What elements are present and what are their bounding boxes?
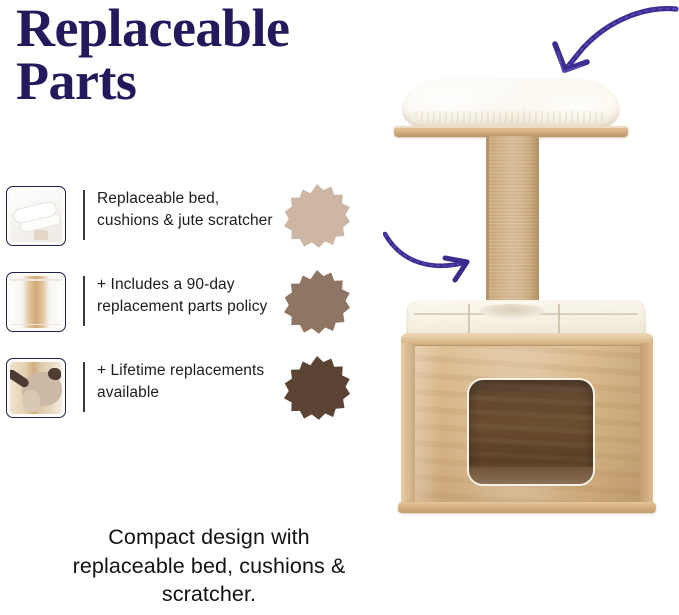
divider [83,362,85,412]
divider [83,190,85,240]
list-item: Replaceable bed, cushions & jute scratch… [0,182,360,268]
rounded-entry-opening [467,378,595,486]
feature-list: Replaceable bed, cushions & jute scratch… [0,182,360,440]
curved-arrow-pointing-to-scratcher [383,218,503,290]
caption-text: Compact design with replaceable bed, cus… [18,523,400,609]
page-title: Replaceable Parts [16,2,386,108]
list-item: + Includes a 90-day replacement parts po… [0,268,360,354]
product-infographic: Replaceable Parts Replaceable bed, cushi… [0,0,679,615]
jute-post-thumbnail [6,272,66,332]
post-collar [480,304,544,318]
feature-label: Replaceable bed, cushions & jute scratch… [97,188,307,232]
white-cushions-thumbnail [6,186,66,246]
cat-tree-image [380,78,679,538]
oak-cat-house-cabinet [401,333,653,513]
cat-scratching-post-thumbnail [6,358,66,418]
list-item: + Lifetime replacements available [0,354,360,440]
feature-label: + Lifetime replacements available [97,360,307,404]
curved-arrow-pointing-to-bed [525,0,679,100]
divider [83,276,85,326]
feature-label: + Includes a 90-day replacement parts po… [97,274,307,318]
